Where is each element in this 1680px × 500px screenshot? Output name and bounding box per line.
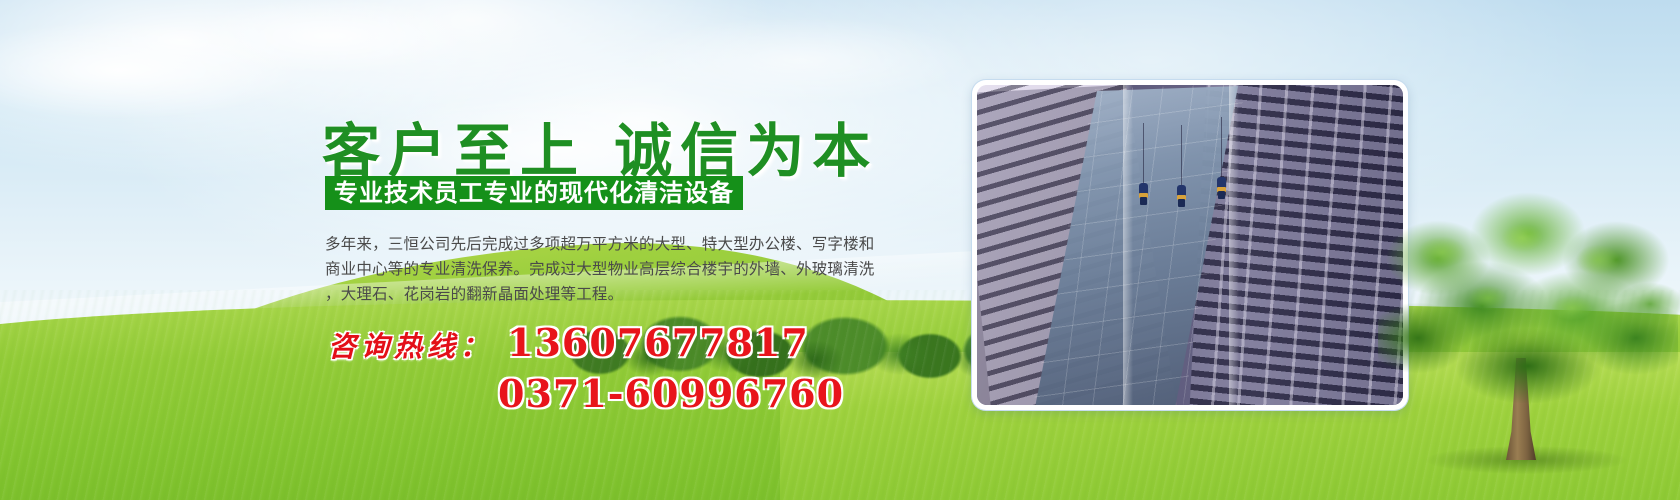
description-line-3: ，大理石、花岗岩的翻新晶面处理等工程。 xyxy=(325,282,890,307)
tagline-text: 专业技术员工专业的现代化清洁设备 xyxy=(334,181,734,205)
promo-banner: 客户至上 诚信为本 专业技术员工专业的现代化清洁设备 多年来，三恒公司先后完成过… xyxy=(0,0,1680,500)
hotline-mobile-number[interactable]: 13607677817 xyxy=(507,320,809,365)
description-paragraph: 多年来，三恒公司先后完成过多项超万平方米的大型、特大型办公楼、写字楼和 商业中心… xyxy=(325,232,890,307)
building-corner-ridge-2 xyxy=(1229,85,1239,405)
rope-access-worker xyxy=(1177,185,1186,207)
hotline-label: 咨询热线： xyxy=(328,325,493,365)
description-line-1: 多年来，三恒公司先后完成过多项超万平方米的大型、特大型办公楼、写字楼和 xyxy=(325,232,890,257)
tagline-bar: 专业技术员工专业的现代化清洁设备 xyxy=(325,176,743,210)
worker-rope xyxy=(1181,125,1182,187)
worker-legs xyxy=(1178,199,1185,207)
foreground-tree xyxy=(1378,188,1678,488)
building-corner-ridge xyxy=(1123,85,1133,405)
worker-rope xyxy=(1221,117,1222,179)
hotline-secondary-row: 0371-60996760 xyxy=(498,371,968,416)
hotline-landline-number[interactable]: 0371-60996760 xyxy=(498,371,844,416)
background-shrub xyxy=(1610,268,1680,328)
hotline-primary-row: 咨询热线： 13607677817 xyxy=(328,320,968,365)
building-photo-frame[interactable] xyxy=(972,80,1408,410)
rope-access-worker xyxy=(1217,177,1226,199)
worker-rope xyxy=(1143,123,1144,185)
rope-access-worker xyxy=(1139,183,1148,205)
description-line-2: 商业中心等的专业清洗保养。完成过大型物业高层综合楼宇的外墙、外玻璃清洗 xyxy=(325,257,890,282)
hotline-block: 咨询热线： 13607677817 0371-60996760 xyxy=(328,320,968,416)
worker-legs xyxy=(1218,191,1225,199)
building-photo xyxy=(977,85,1403,405)
worker-legs xyxy=(1140,197,1147,205)
